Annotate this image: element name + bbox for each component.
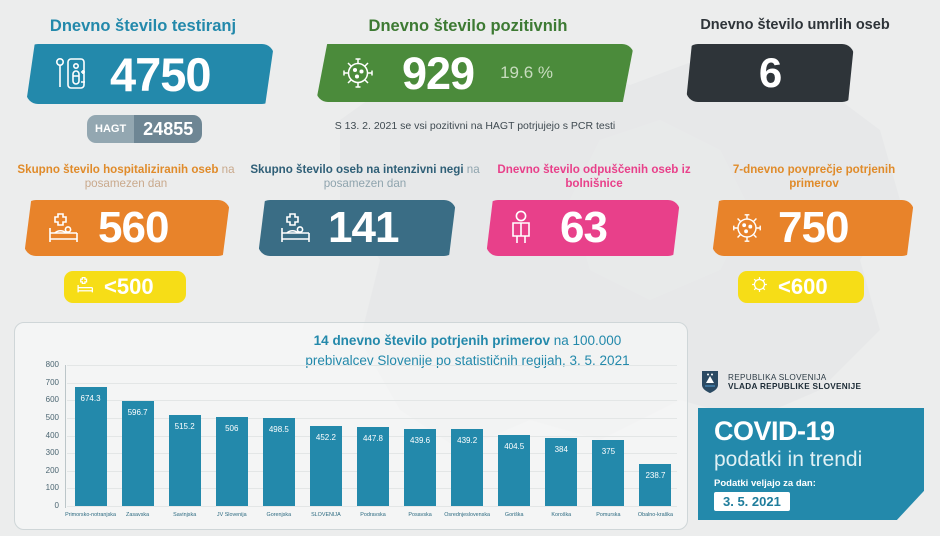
hospitalized-target-value: <500 — [104, 274, 154, 300]
hospital-bed-icon — [278, 211, 314, 245]
intensive-card: 141 — [258, 200, 456, 256]
chart-gridline — [67, 400, 677, 401]
chart-bar-value: 452.2 — [310, 433, 342, 442]
tested-value: 4750 — [110, 51, 211, 98]
chart-gridline — [67, 383, 677, 384]
y-axis-tick: 0 — [15, 501, 59, 510]
gov-line1: REPUBLIKA SLOVENIJA — [728, 373, 861, 382]
x-axis-label: Obalno-kraška — [626, 512, 685, 518]
tested-title: Dnevno število testiranj — [14, 16, 272, 37]
hagt-badge: HAGT 24855 — [87, 115, 202, 143]
y-axis-tick: 400 — [15, 431, 59, 440]
rapid-test-icon — [54, 56, 88, 92]
covid-info-box: COVID-19 podatki in trendi Podatki velja… — [698, 408, 924, 520]
covid-valid-label: Podatki veljajo za dan: — [714, 478, 816, 489]
chart-bar-value: 404.5 — [498, 442, 530, 451]
covid-title: COVID-19 — [714, 416, 835, 447]
hospitalized-value: 560 — [98, 206, 168, 250]
discharged-value: 63 — [560, 206, 607, 250]
y-axis-tick: 300 — [15, 448, 59, 457]
intensive-value: 141 — [328, 206, 398, 250]
chart-bar-value: 384 — [545, 445, 577, 454]
hospitalized-title: Skupno število hospitaliziranih oseb na … — [8, 163, 244, 192]
y-axis-tick: 200 — [15, 466, 59, 475]
average7-target-badge: <600 — [738, 271, 864, 303]
y-axis-tick: 800 — [15, 360, 59, 369]
chart-bar-value: 238.7 — [639, 471, 671, 480]
chart-title-rest: na 100.000 — [554, 333, 622, 348]
government-branding: REPUBLIKA SLOVENIJA VLADA REPUBLIKE SLOV… — [700, 370, 928, 394]
hagt-badge-value: 24855 — [134, 115, 202, 143]
tested-title-text: Dnevno število testiranj — [50, 17, 236, 35]
virus-icon — [750, 275, 769, 299]
hospital-bed-icon — [46, 211, 82, 245]
chart-gridline — [67, 418, 677, 419]
chart-title-bold: 14 dnevno število potrjenih primerov — [314, 333, 550, 348]
covid-valid-date: 3. 5. 2021 — [714, 492, 790, 511]
chart-bar-value: 447.8 — [357, 434, 389, 443]
chart-bar-value: 515.2 — [169, 422, 201, 431]
deaths-value: 6 — [759, 52, 781, 94]
y-axis-tick: 100 — [15, 483, 59, 492]
average7-value: 750 — [778, 206, 848, 250]
virus-icon — [340, 55, 376, 91]
regions-bar-chart: 14 dnevno število potrjenih primerov na … — [14, 322, 688, 530]
positive-title: Dnevno število pozitivnih — [318, 16, 618, 37]
chart-bar-value: 674.3 — [75, 394, 107, 403]
positive-footnote: S 13. 2. 2021 se vsi pozitivni na HAGT p… — [295, 120, 655, 132]
coat-of-arms-icon — [700, 370, 720, 394]
chart-gridline — [67, 506, 677, 507]
deaths-title-text: Dnevno število umrlih oseb — [700, 17, 889, 33]
hospitalized-title-bold: Skupno število hospitaliziranih oseb — [17, 163, 218, 176]
deaths-title: Dnevno število umrlih oseb — [660, 16, 930, 34]
chart-bar-value: 506 — [216, 424, 248, 433]
intensive-title: Skupno število oseb na intenzivni negi n… — [246, 163, 484, 192]
average7-title-text: 7-dnevno povprečje potrjenih primerov — [733, 163, 895, 190]
average7-card: 750 — [712, 200, 914, 256]
positive-value: 929 — [402, 51, 474, 96]
hospitalized-target-badge: <500 — [64, 271, 186, 303]
chart-gridline — [67, 365, 677, 366]
average7-title: 7-dnevno povprečje potrjenih primerov — [708, 163, 920, 192]
hospitalized-card: 560 — [24, 200, 230, 256]
chart-bar-value: 439.6 — [404, 436, 436, 445]
positive-card: 929 19.6 % — [316, 44, 634, 102]
y-axis-tick: 500 — [15, 413, 59, 422]
discharged-card: 63 — [486, 200, 680, 256]
gov-line2: VLADA REPUBLIKE SLOVENIJE — [728, 382, 861, 391]
tested-card: 4750 — [26, 44, 274, 104]
discharged-title-text: Dnevno število odpuščenih oseb iz bolniš… — [497, 163, 690, 190]
person-icon — [508, 210, 534, 246]
chart-bar-value: 596.7 — [122, 408, 154, 417]
deaths-card: 6 — [686, 44, 854, 102]
chart-bar — [75, 387, 107, 506]
discharged-title: Dnevno število odpuščenih oseb iz bolniš… — [486, 163, 702, 192]
chart-bar-value: 498.5 — [263, 425, 295, 434]
intensive-title-bold: Skupno število oseb na intenzivni negi — [250, 163, 463, 176]
hagt-badge-label: HAGT — [87, 115, 134, 143]
virus-icon — [730, 211, 764, 245]
chart-bar-value: 375 — [592, 447, 624, 456]
y-axis-tick: 600 — [15, 395, 59, 404]
positive-title-text: Dnevno število pozitivnih — [369, 17, 568, 35]
y-axis-line — [65, 365, 66, 508]
average7-target-value: <600 — [778, 274, 828, 300]
chart-bar-value: 439.2 — [451, 436, 483, 445]
positive-percent: 19.6 % — [500, 63, 553, 83]
covid-subtitle: podatki in trendi — [714, 448, 862, 472]
y-axis-tick: 700 — [15, 378, 59, 387]
hospital-bed-icon — [76, 276, 95, 299]
